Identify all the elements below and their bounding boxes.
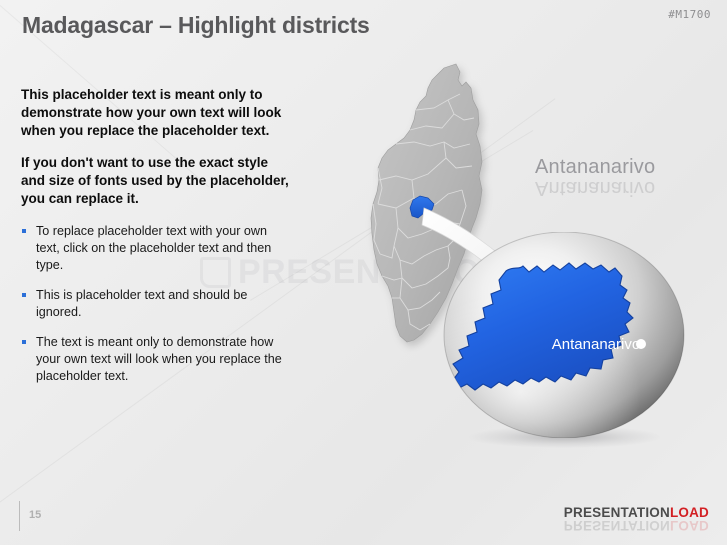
- district-heading-reflection: Antananarivo: [535, 176, 655, 199]
- page-number: 15: [29, 509, 41, 521]
- slide-canvas: Madagascar – Highlight districts #M1700 …: [0, 0, 727, 545]
- district-heading: Antananarivo Antananarivo: [535, 156, 655, 199]
- list-item: This is placeholder text and should be i…: [21, 287, 294, 321]
- page-title: Madagascar – Highlight districts: [22, 12, 370, 39]
- lead-paragraph-1: This placeholder text is meant only to d…: [21, 86, 294, 139]
- bullet-square-icon: [22, 293, 26, 297]
- list-item-label: The text is meant only to demonstrate ho…: [36, 335, 282, 383]
- bullet-square-icon: [22, 340, 26, 344]
- list-item: To replace placeholder text with your ow…: [21, 223, 294, 274]
- page-number-divider: [19, 501, 20, 531]
- list-item: The text is meant only to demonstrate ho…: [21, 334, 294, 385]
- bullet-list: To replace placeholder text with your ow…: [21, 223, 294, 385]
- list-item-label: To replace placeholder text with your ow…: [36, 224, 271, 272]
- district-heading-label: Antananarivo: [535, 156, 655, 178]
- brand-logo-reflection: PRESENTATIONLOAD: [564, 518, 709, 533]
- list-item-label: This is placeholder text and should be i…: [36, 288, 247, 319]
- text-column: This placeholder text is meant only to d…: [21, 86, 294, 398]
- globe-district-label: Antananarivo: [552, 336, 640, 353]
- article-number: #M1700: [668, 8, 711, 21]
- bullet-square-icon: [22, 229, 26, 233]
- lead-paragraph-2: If you don't want to use the exact style…: [21, 154, 294, 207]
- globe-zoom[interactable]: Antananarivo: [441, 230, 687, 452]
- brand-logo: PRESENTATIONLOAD PRESENTATIONLOAD: [564, 505, 709, 533]
